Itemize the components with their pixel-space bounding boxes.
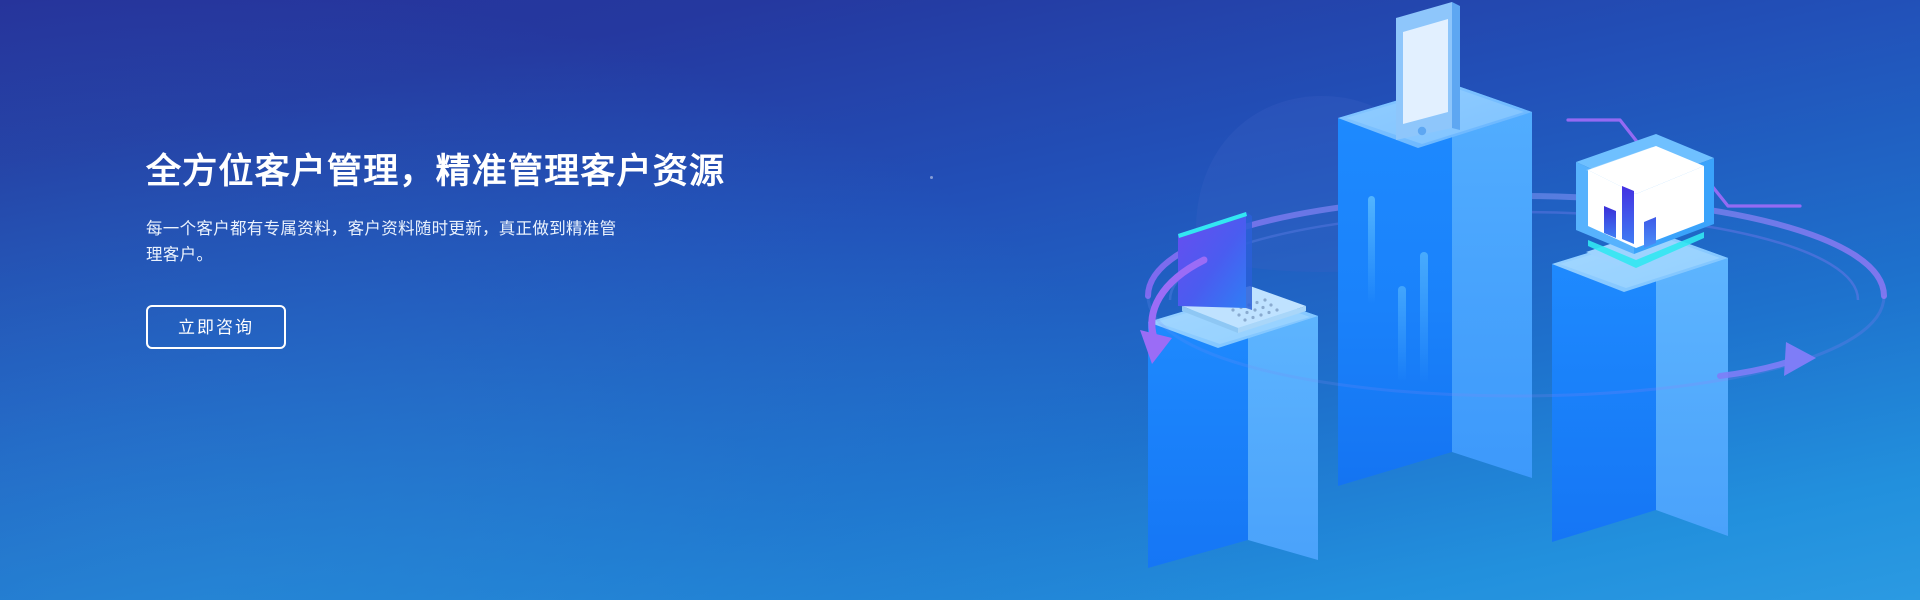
illustration-isometric-data-pillars xyxy=(1100,0,1920,600)
page-title: 全方位客户管理，精准管理客户资源 xyxy=(146,150,866,194)
center-pillar-group xyxy=(1338,2,1532,486)
right-pillar-group xyxy=(1552,134,1728,542)
consult-now-button[interactable]: 立即咨询 xyxy=(146,305,286,349)
sparkle-dot xyxy=(930,176,933,179)
hero-subtitle: 每一个客户都有专属资料，客户资料随时更新，真正做到精准管理客户。 xyxy=(146,216,626,269)
tablet-device xyxy=(1396,2,1460,140)
center-pillar xyxy=(1338,84,1532,486)
hero-copy-block: 全方位客户管理，精准管理客户资源 每一个客户都有专属资料，客户资料随时更新，真正… xyxy=(146,150,866,349)
hero-banner: 全方位客户管理，精准管理客户资源 每一个客户都有专属资料，客户资料随时更新，真正… xyxy=(0,0,1920,600)
right-pillar xyxy=(1552,232,1728,542)
